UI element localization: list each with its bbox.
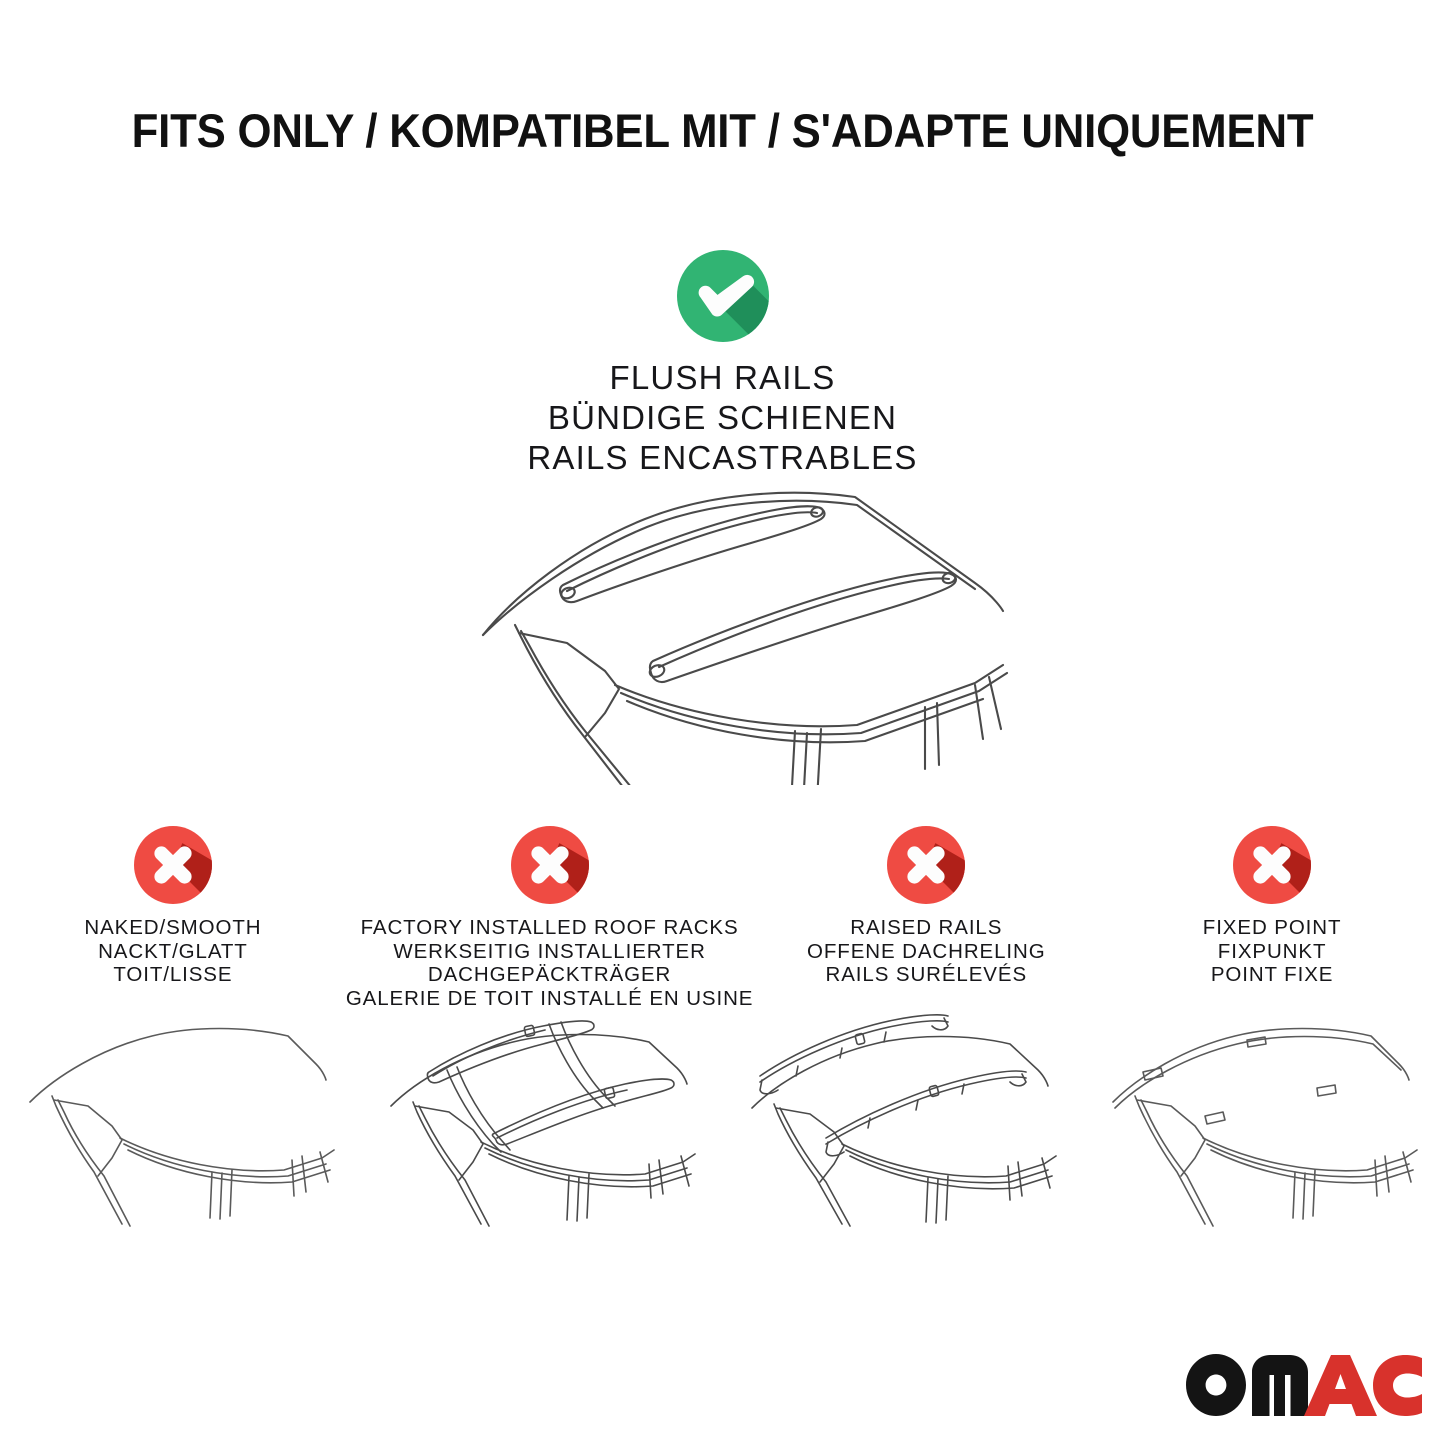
label-line-fr: RAILS SURÉLEVÉS bbox=[807, 963, 1046, 987]
label-line-de-1: WERKSEITIG INSTALLIERTER bbox=[346, 940, 754, 964]
x-circle-icon bbox=[887, 826, 965, 904]
label-line-en: FACTORY INSTALLED ROOF RACKS bbox=[346, 916, 754, 940]
compatible-label-en: FLUSH RAILS bbox=[527, 358, 917, 398]
label-line-de: FIXPUNKT bbox=[1203, 940, 1342, 964]
car-roof-flush-rails-illustration bbox=[455, 475, 1015, 785]
check-glyph bbox=[677, 250, 769, 342]
compatible-label-de: BÜNDIGE SCHIENEN bbox=[527, 398, 917, 438]
incompatible-label: NAKED/SMOOTH NACKT/GLATT TOIT/LISSE bbox=[84, 916, 261, 987]
omac-logo bbox=[1186, 1354, 1422, 1416]
car-roof-factory-racks-illustration bbox=[361, 1010, 722, 1240]
incompatible-illustrations bbox=[0, 1010, 1445, 1240]
x-glyph bbox=[511, 826, 589, 904]
check-circle-icon bbox=[677, 250, 769, 342]
x-circle-icon bbox=[134, 826, 212, 904]
incompatible-item-raised-rails: RAISED RAILS OFFENE DACHRELING RAILS SUR… bbox=[753, 826, 1099, 1010]
compatible-label-fr: RAILS ENCASTRABLES bbox=[527, 438, 917, 478]
incompatible-item-fixed-point: FIXED POINT FIXPUNKT POINT FIXE bbox=[1099, 826, 1445, 1010]
x-glyph bbox=[134, 826, 212, 904]
x-glyph bbox=[887, 826, 965, 904]
label-line-fr: POINT FIXE bbox=[1203, 963, 1342, 987]
incompatible-label: FIXED POINT FIXPUNKT POINT FIXE bbox=[1203, 916, 1342, 987]
x-circle-icon bbox=[511, 826, 589, 904]
compatible-section: FLUSH RAILS BÜNDIGE SCHIENEN RAILS ENCAS… bbox=[0, 250, 1445, 478]
label-line-de-2: DACHGEPÄCKTRÄGER bbox=[346, 963, 754, 987]
car-roof-fixed-point-illustration bbox=[1084, 1010, 1445, 1240]
label-line-en: RAISED RAILS bbox=[807, 916, 1046, 940]
incompatible-item-naked-smooth: NAKED/SMOOTH NACKT/GLATT TOIT/LISSE bbox=[0, 826, 346, 1010]
x-circle-icon bbox=[1233, 826, 1311, 904]
label-line-fr: GALERIE DE TOIT INSTALLÉ EN USINE bbox=[346, 987, 754, 1011]
x-glyph bbox=[1233, 826, 1311, 904]
page-title: FITS ONLY / KOMPATIBEL MIT / S'ADAPTE UN… bbox=[51, 103, 1395, 158]
compatible-label: FLUSH RAILS BÜNDIGE SCHIENEN RAILS ENCAS… bbox=[527, 358, 917, 478]
label-line-en: FIXED POINT bbox=[1203, 916, 1342, 940]
label-line-de: OFFENE DACHRELING bbox=[807, 940, 1046, 964]
label-line-en: NAKED/SMOOTH bbox=[84, 916, 261, 940]
label-line-de: NACKT/GLATT bbox=[84, 940, 261, 964]
car-roof-raised-rails-illustration bbox=[723, 1010, 1084, 1240]
incompatible-item-factory-roof-racks: FACTORY INSTALLED ROOF RACKS WERKSEITIG … bbox=[346, 826, 754, 1010]
incompatible-label: RAISED RAILS OFFENE DACHRELING RAILS SUR… bbox=[807, 916, 1046, 987]
car-roof-naked-illustration bbox=[0, 1010, 361, 1240]
incompatible-section: NAKED/SMOOTH NACKT/GLATT TOIT/LISSE FACT… bbox=[0, 826, 1445, 1010]
label-line-fr: TOIT/LISSE bbox=[84, 963, 261, 987]
incompatible-label: FACTORY INSTALLED ROOF RACKS WERKSEITIG … bbox=[346, 916, 754, 1010]
